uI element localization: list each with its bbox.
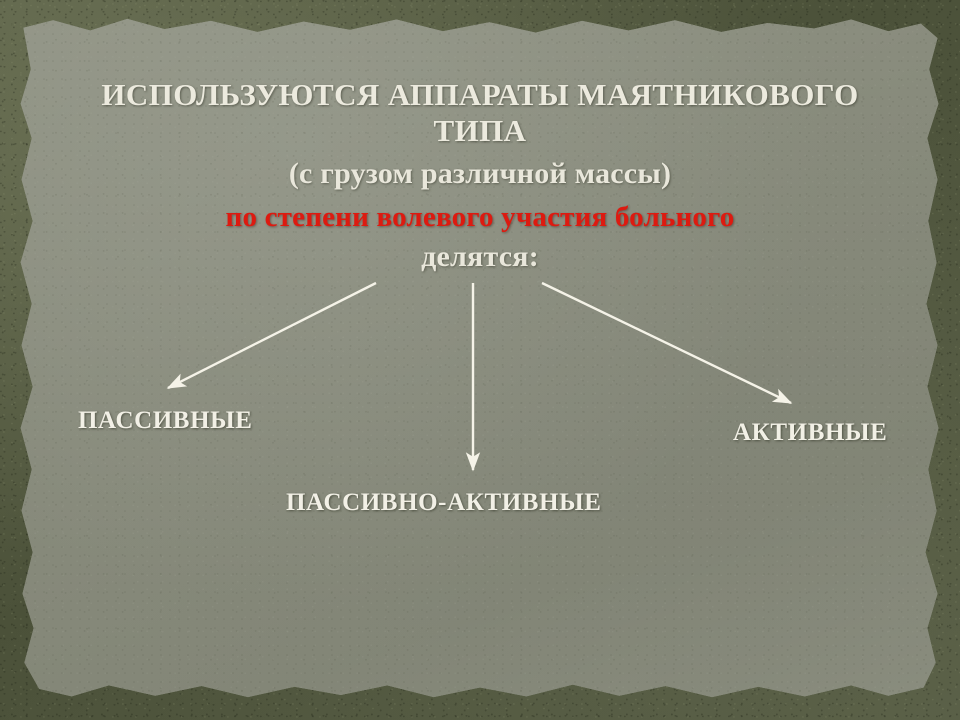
arrow-to-active-icon xyxy=(542,283,791,403)
node-label-passive: ПАССИВНЫЕ xyxy=(78,407,253,435)
heading-line-1: ИСПОЛЬЗУЮТСЯ АППАРАТЫ МАЯТНИКОВОГО xyxy=(0,78,960,113)
arrow-to-passive-icon xyxy=(168,283,376,388)
slide-content: ИСПОЛЬЗУЮТСЯ АППАРАТЫ МАЯТНИКОВОГО ТИПА … xyxy=(0,0,960,720)
node-label-active: АКТИВНЫЕ xyxy=(733,419,887,447)
node-label-passive-active: ПАССИВНО-АКТИВНЫЕ xyxy=(286,489,602,517)
heading-line-4-criterion: по степени волевого участия больного xyxy=(0,201,960,233)
slide-canvas: ИСПОЛЬЗУЮТСЯ АППАРАТЫ МАЯТНИКОВОГО ТИПА … xyxy=(0,0,960,720)
heading-line-5-divider-label: делятся: xyxy=(0,240,960,274)
heading-line-2: ТИПА xyxy=(0,114,960,149)
heading-line-3-subtitle: (с грузом различной массы) xyxy=(0,157,960,191)
